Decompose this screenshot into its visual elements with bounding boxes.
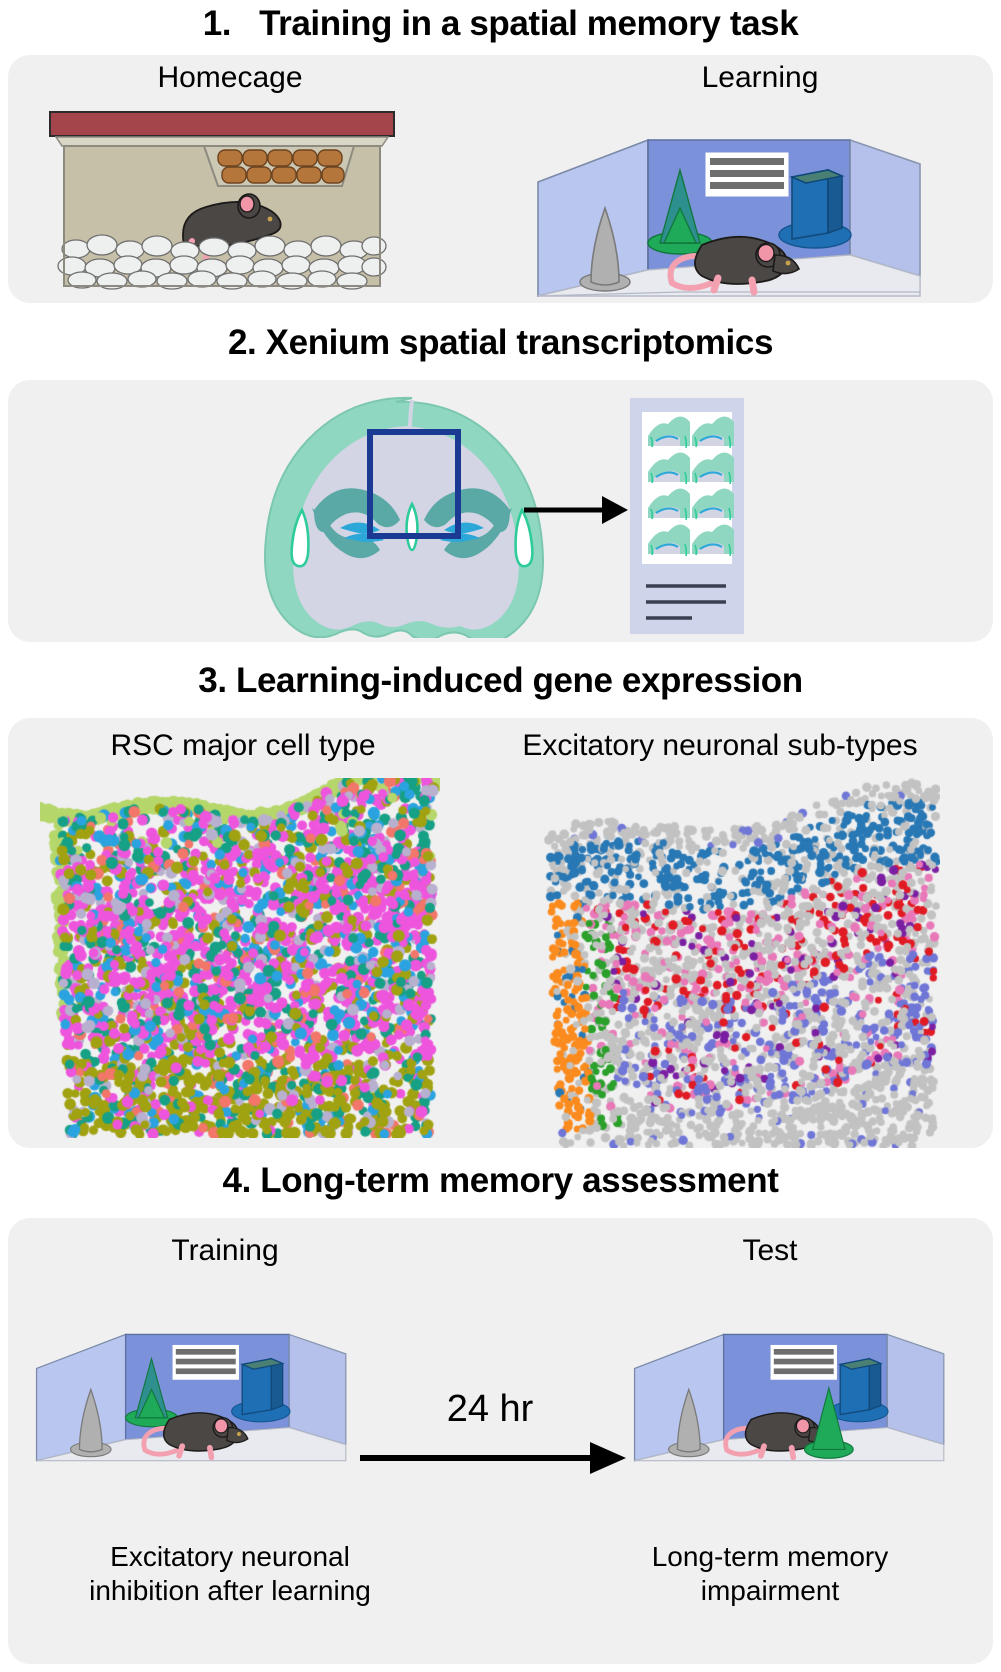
homecage-label: Homecage (60, 62, 400, 94)
cue-card-icon (173, 1345, 239, 1380)
graphical-abstract: 1. Training in a spatial memory task Hom… (0, 0, 1001, 1672)
section-3-title: 3. Learning-induced gene expression (0, 663, 1001, 698)
caption-right: Long-term memory impairment (570, 1540, 970, 1608)
rsc-major-cell-type-label: RSC major cell type (38, 730, 448, 762)
caption-left: Excitatory neuronal inhibition after lea… (20, 1540, 440, 1608)
xenium-slide (628, 396, 748, 636)
section-2-title: 2. Xenium spatial transcriptomics (0, 325, 1001, 360)
cue-card-icon (771, 1345, 837, 1380)
arena-illustration-learning (520, 100, 940, 300)
section-1-title: 1. Training in a spatial memory task (0, 6, 1001, 41)
arena-group (538, 140, 920, 296)
cell-type-scatter (40, 778, 440, 1138)
cue-card-icon (706, 153, 788, 196)
section-4-title: 4. Long-term memory assessment (0, 1163, 1001, 1198)
arena-illustration-training (22, 1288, 362, 1478)
excitatory-subtypes-label: Excitatory neuronal sub-types (460, 730, 980, 762)
learning-label: Learning (600, 62, 920, 94)
test-label: Test (640, 1235, 900, 1267)
workflow-arrow-icon (522, 490, 630, 530)
homecage-illustration (42, 110, 402, 290)
training-label: Training (60, 1235, 390, 1267)
subtype-scatter (500, 778, 940, 1148)
time-arrow-icon (358, 1438, 628, 1478)
arrow-time-label: 24 hr (360, 1390, 620, 1430)
arena-illustration-test (620, 1288, 960, 1478)
